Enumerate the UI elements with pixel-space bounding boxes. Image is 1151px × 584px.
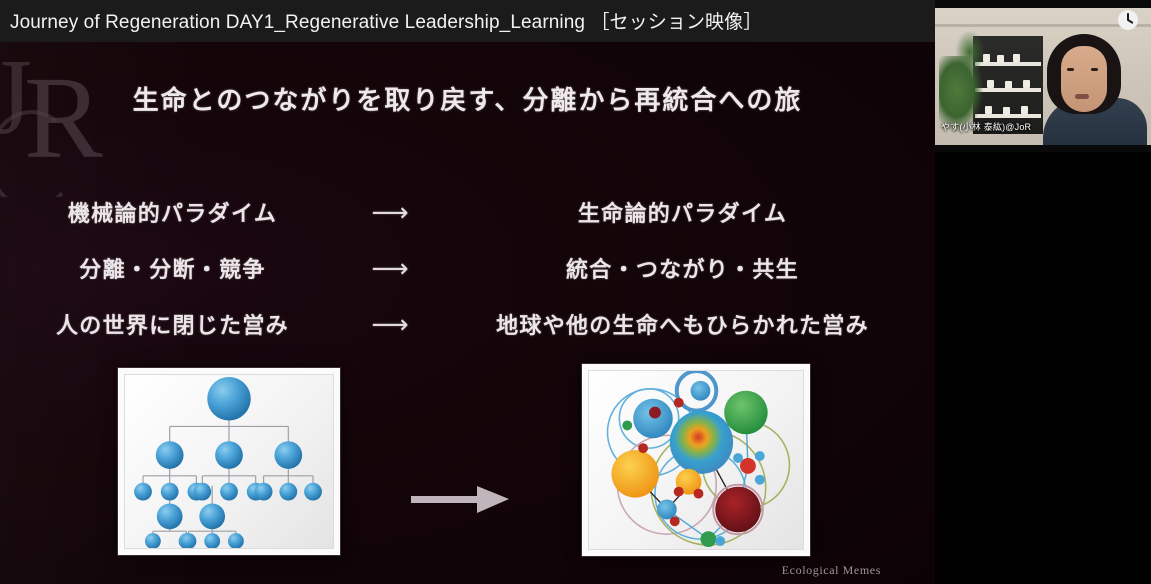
screen-root: Journey of Regeneration DAY1_Regenerativ… [0, 0, 1151, 584]
comparison-row: 分離・分断・競争 ⟶ 統合・つながり・共生 [0, 240, 935, 296]
shelf-object [985, 106, 992, 114]
row-left-label: 分離・分断・競争 [0, 252, 345, 284]
hierarchy-tree-diagram [118, 368, 340, 555]
row-left-label: 人の世界に閉じた営み [0, 308, 345, 340]
participant-mouth [1075, 94, 1089, 99]
row-right-label: 統合・つながり・共生 [430, 252, 935, 284]
window-title: Journey of Regeneration DAY1_Regenerativ… [10, 7, 762, 34]
shelf-object [1003, 107, 1010, 115]
ecological-network-canvas [588, 370, 804, 550]
shelf-object [1023, 80, 1030, 88]
jor-logo-icon: J R [0, 47, 119, 197]
participant-name-label: やす(小林 泰紘)@JoR [941, 120, 1031, 133]
right-arrow-icon: ⟶ [355, 311, 425, 337]
shelf-object [1021, 106, 1028, 114]
right-arrow-icon: ⟶ [355, 199, 425, 225]
webcam-overlay[interactable]: やす(小林 泰紘)@JoR [935, 0, 1151, 152]
row-left-label: 機械論的パラダイム [0, 196, 345, 228]
participant-face [1061, 46, 1107, 112]
transition-arrow-icon [405, 477, 515, 522]
shelf-object [1005, 81, 1012, 89]
participant-eye [1091, 68, 1098, 71]
shelf-object [997, 55, 1004, 63]
slide-heading: 生命とのつながりを取り戻す、分離から再統合への旅 [0, 80, 935, 117]
comparison-row: 人の世界に閉じた営み ⟶ 地球や他の生命へもひらかれた営み [0, 296, 935, 352]
participant-eye [1067, 68, 1074, 71]
shelf-object [987, 80, 994, 88]
shelf-object [1013, 54, 1020, 62]
right-arrow-icon: ⟶ [355, 255, 425, 281]
comparison-row: 機械論的パラダイム ⟶ 生命論的パラダイム [0, 184, 935, 240]
ecological-network-diagram [582, 364, 810, 556]
clock-icon[interactable] [1117, 9, 1139, 31]
row-right-label: 生命論的パラダイム [430, 196, 935, 228]
presentation-slide: J R 生命とのつながりを取り戻す、分離から再統合への旅 機械論的パラダイム ⟶… [0, 42, 935, 584]
slide-watermark: Ecological Memes [782, 563, 881, 578]
hierarchy-tree-canvas [124, 374, 334, 549]
row-right-label: 地球や他の生命へもひらかれた営み [430, 308, 935, 340]
comparison-rows: 機械論的パラダイム ⟶ 生命論的パラダイム 分離・分断・競争 ⟶ 統合・つながり… [0, 184, 935, 352]
svg-text:R: R [24, 52, 103, 183]
